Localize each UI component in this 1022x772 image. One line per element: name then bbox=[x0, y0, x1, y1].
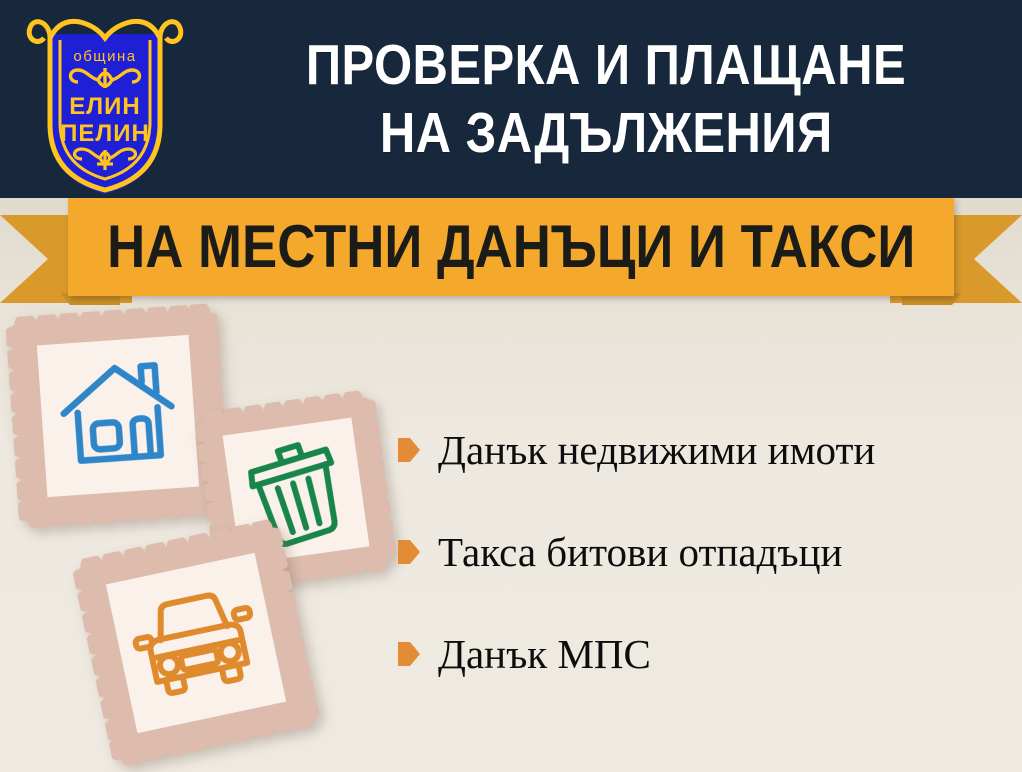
list-item[interactable]: Такса битови отпадъци bbox=[398, 527, 1018, 577]
ribbon-banner: НА МЕСТНИ ДАНЪЦИ И ТАКСИ bbox=[68, 197, 954, 296]
list-item-label: Данък МПС bbox=[438, 631, 651, 677]
list-item-label: Данък недвижими имоти bbox=[438, 427, 875, 473]
list-item[interactable]: Данък недвижими имоти bbox=[398, 425, 1018, 475]
arrow-bullet-icon bbox=[398, 642, 420, 666]
svg-text:ПЕЛИН: ПЕЛИН bbox=[60, 120, 150, 147]
tax-type-list: Данък недвижими имоти Такса битови отпад… bbox=[398, 425, 1018, 679]
arrow-bullet-icon bbox=[398, 438, 420, 462]
svg-text:ЕЛИН: ЕЛИН bbox=[69, 93, 140, 120]
title-line-1: ПРОВЕРКА И ПЛАЩАНЕ bbox=[306, 31, 906, 99]
list-item-label: Такса битови отпадъци bbox=[438, 529, 842, 575]
list-item[interactable]: Данък МПС bbox=[398, 629, 1018, 679]
arrow-bullet-icon bbox=[398, 540, 420, 564]
svg-text:община: община bbox=[73, 48, 136, 65]
page-title: ПРОВЕРКА И ПЛАЩАНЕ НА ЗАДЪЛЖЕНИЯ bbox=[190, 0, 1022, 198]
subtitle-ribbon: НА МЕСТНИ ДАНЪЦИ И ТАКСИ bbox=[0, 197, 1022, 305]
poster-root: община ЕЛИН ПЕЛИН bbox=[0, 0, 1022, 772]
header-bar: община ЕЛИН ПЕЛИН bbox=[0, 0, 1022, 198]
stamp-group bbox=[0, 300, 420, 772]
stamp-car bbox=[70, 517, 321, 768]
coat-of-arms-icon: община ЕЛИН ПЕЛИН bbox=[20, 4, 190, 196]
ribbon-label: НА МЕСТНИ ДАНЪЦИ И ТАКСИ bbox=[107, 217, 915, 277]
title-line-2: НА ЗАДЪЛЖЕНИЯ bbox=[380, 99, 833, 167]
